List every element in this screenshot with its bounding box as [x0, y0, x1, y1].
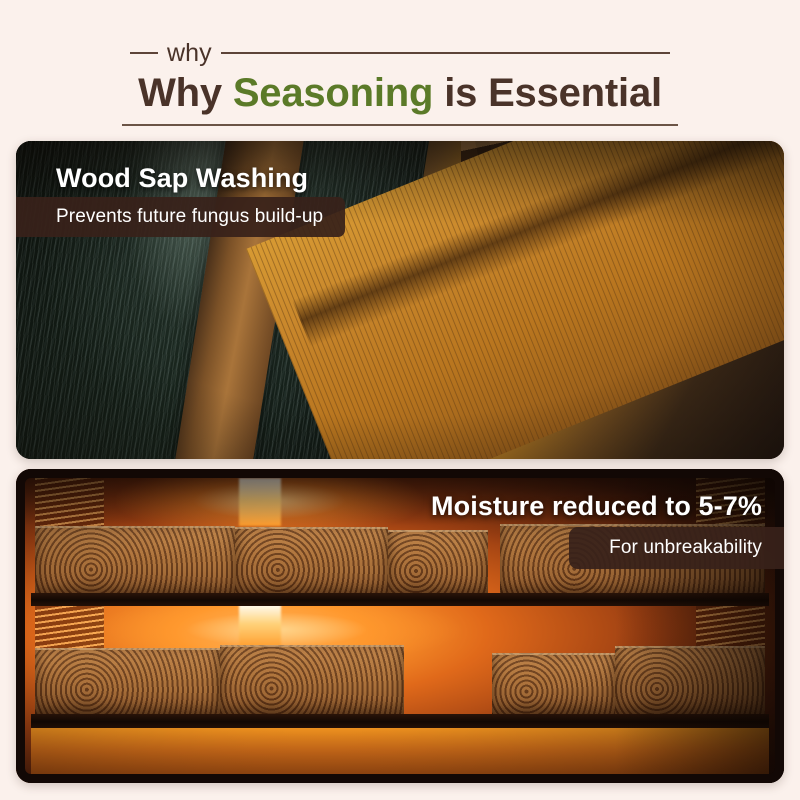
- card-subtitle-pill-sap-washing: Prevents future fungus build-up: [16, 197, 345, 237]
- title-segment-why: Why: [138, 71, 233, 115]
- overline-rule-right: [221, 52, 670, 54]
- title-underline: [122, 124, 678, 126]
- title-segment-seasoning: Seasoning: [233, 71, 433, 115]
- infographic-page: why Why Seasoning is Essential Wood Sap …: [0, 0, 800, 800]
- overline-dash-left: [130, 52, 158, 54]
- overline-text: why: [158, 40, 221, 66]
- title-segment-is-essential: is Essential: [433, 71, 662, 115]
- header: why Why Seasoning is Essential: [0, 40, 800, 126]
- card-kiln-drying: Moisture reduced to 5-7% For unbreakabil…: [16, 469, 784, 783]
- card-wood-sap-washing: Wood Sap Washing Prevents future fungus …: [16, 141, 784, 459]
- card-subtitle-pill-kiln-drying: For unbreakability: [569, 527, 784, 569]
- page-title: Why Seasoning is Essential: [138, 69, 662, 117]
- overline-row: why: [130, 40, 670, 66]
- card-title-kiln-drying: Moisture reduced to 5-7%: [431, 491, 762, 522]
- card-title-sap-washing: Wood Sap Washing: [56, 163, 308, 194]
